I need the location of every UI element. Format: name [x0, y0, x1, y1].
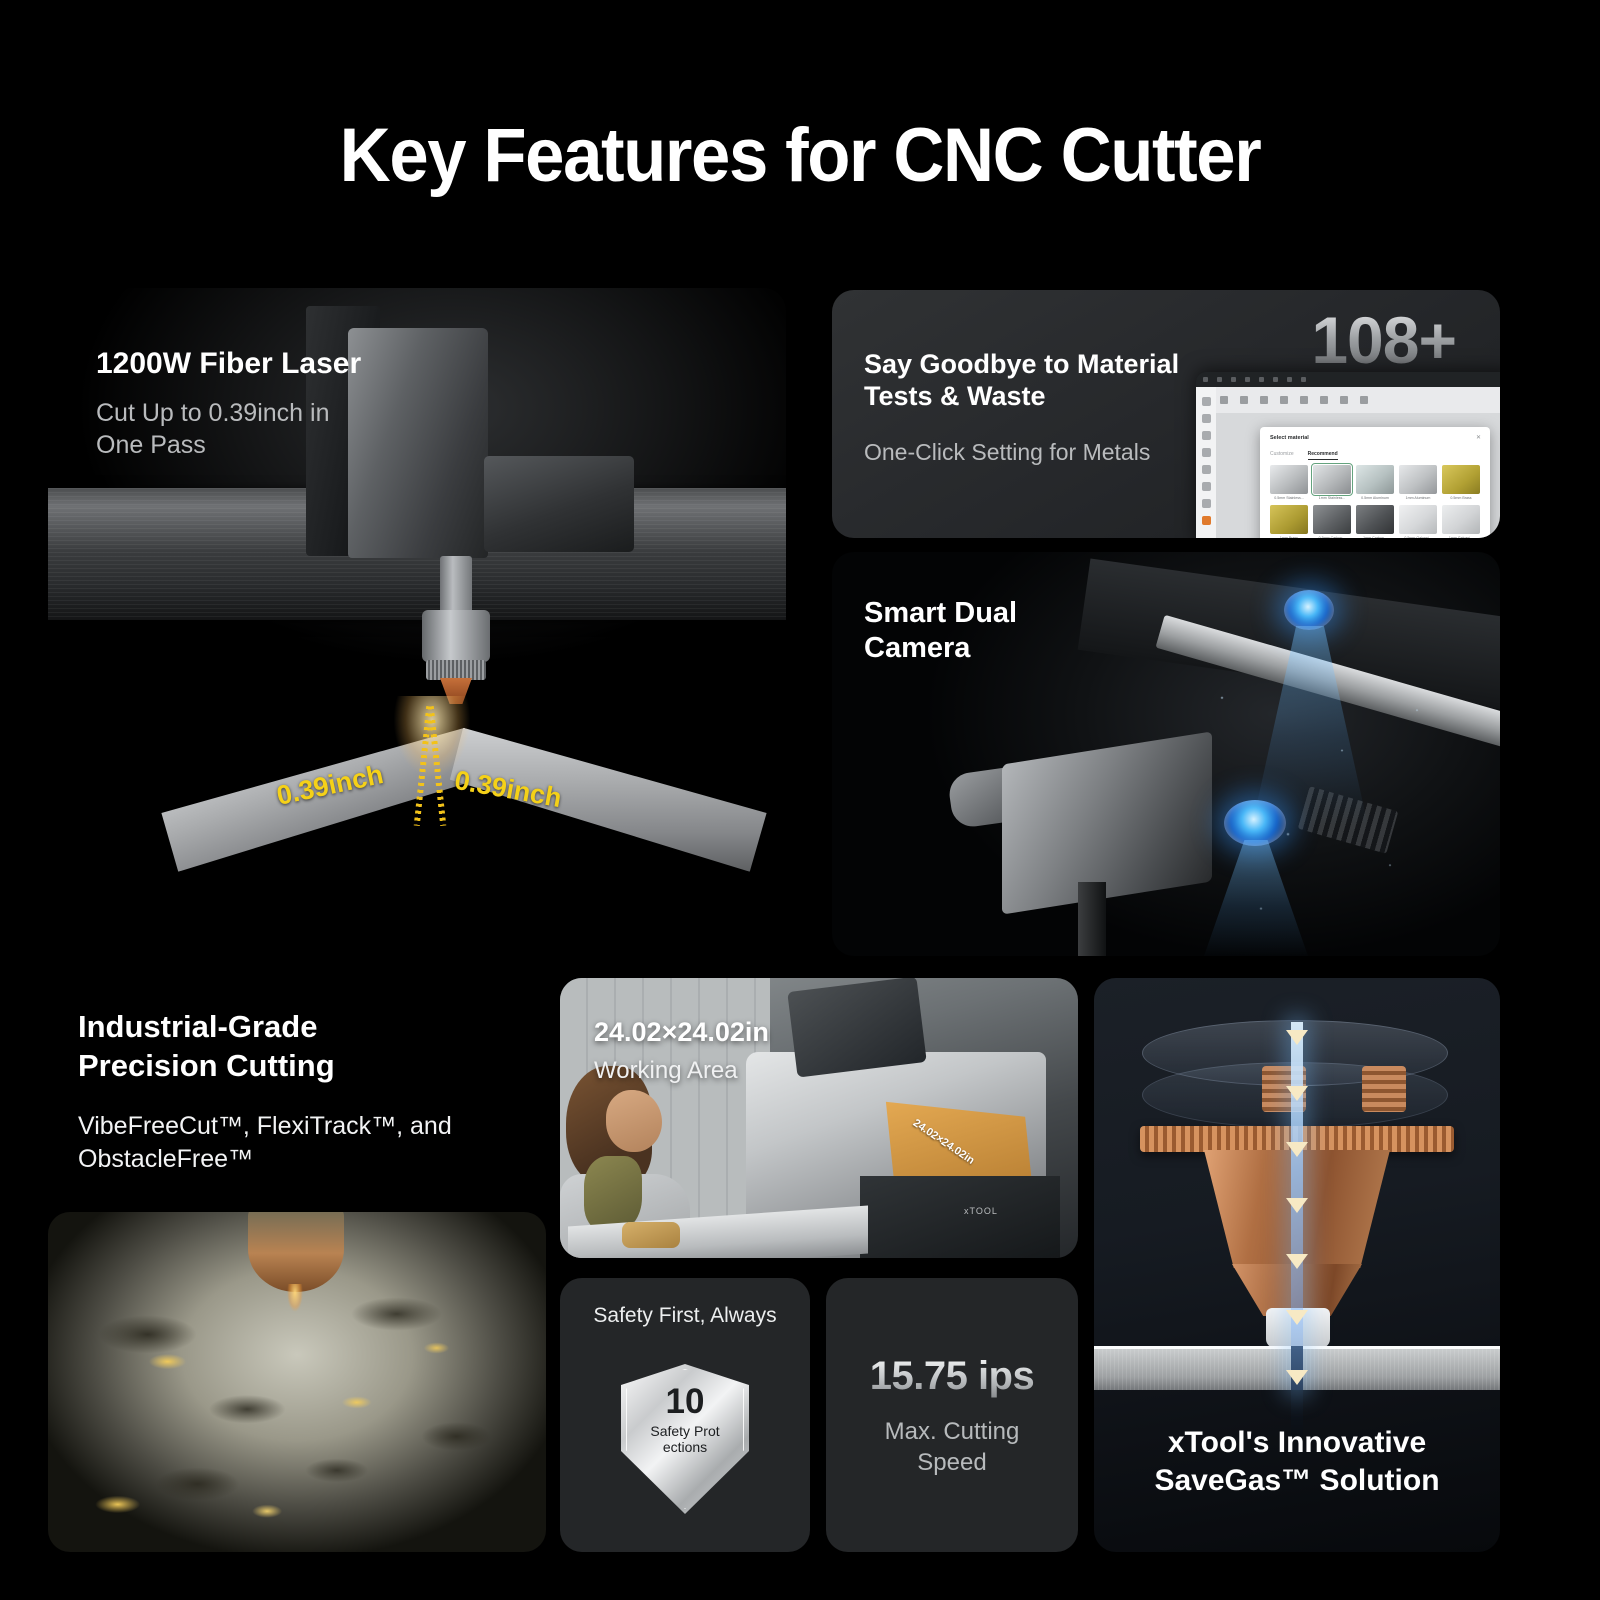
- gas-flow-arrow-icon: [1286, 1370, 1308, 1385]
- material-swatch-label: 0.5mm Aluminum: [1356, 496, 1394, 500]
- gas-flow-arrow-icon: [1286, 1198, 1308, 1213]
- undo-icon: [1245, 377, 1250, 382]
- cutting-spark-graphic: [284, 1284, 306, 1332]
- laser-head-graphic: [348, 328, 488, 558]
- material-tool-icon[interactable]: [1202, 516, 1211, 525]
- select-material-dialog: Select material ✕ Customize Recommend 0.…: [1260, 427, 1490, 538]
- material-swatch-thumb: [1442, 505, 1480, 534]
- align-icon: [1300, 396, 1308, 404]
- material-swatch-label: 1mm Stainless...: [1313, 496, 1351, 500]
- precision-subtitle: VibeFreeCut™, FlexiTrack™, and ObstacleF…: [78, 1110, 452, 1175]
- material-swatch-thumb: [1313, 465, 1351, 494]
- material-swatch-thumb: [1270, 505, 1308, 534]
- gas-flow-arrow-icon: [1286, 1086, 1308, 1101]
- redo-icon: [1259, 377, 1264, 382]
- gas-flow-arrow-icon: [1286, 1310, 1308, 1325]
- material-swatch[interactable]: 1mm Stainless...: [1313, 465, 1351, 500]
- card-fiber-laser: 0.39inch 0.39inch 1200W Fiber Laser Cut …: [48, 288, 786, 956]
- gas-flow-arrow-icon: [1286, 1142, 1308, 1157]
- thread-right-graphic: [1362, 1066, 1406, 1112]
- software-window-preview: Select material ✕ Customize Recommend 0.…: [1196, 372, 1500, 538]
- safety-title: Safety First, Always: [560, 1304, 810, 1328]
- material-count: 108+: [1311, 302, 1456, 378]
- material-swatch[interactable]: 0.5mm Stainless...: [1270, 465, 1308, 500]
- working-area-title: 24.02×24.02in: [594, 1016, 769, 1048]
- material-swatch-label: 1mm Aluminum: [1399, 496, 1437, 500]
- fiber-laser-title: 1200W Fiber Laser: [96, 346, 361, 382]
- material-swatch-thumb: [1442, 465, 1480, 494]
- tab-customize[interactable]: Customize: [1270, 451, 1294, 460]
- material-swatch-label: 0.5mm Brass: [1442, 496, 1480, 500]
- text-tool-icon[interactable]: [1202, 414, 1211, 423]
- width-icon: [1220, 396, 1228, 404]
- machine-brand-label: xTOOL: [964, 1206, 998, 1216]
- text-icon: [1287, 377, 1292, 382]
- close-icon[interactable]: ✕: [1476, 434, 1481, 441]
- grid-tool-icon[interactable]: [1202, 482, 1211, 491]
- card-precision-cutting-photo: [48, 1212, 546, 1552]
- material-swatch-thumb: [1399, 505, 1437, 534]
- software-tool-sidebar: [1196, 387, 1216, 538]
- material-swatch-label: 0.5mm Stainless...: [1270, 496, 1308, 500]
- dust-particles-graphic: [1162, 642, 1462, 952]
- precision-title: Industrial-Grade Precision Cutting: [78, 1008, 335, 1086]
- software-propertybar: [1196, 387, 1500, 413]
- material-swatch-label: 0.5mm Carbon...: [1313, 536, 1351, 538]
- material-swatch-thumb: [1313, 505, 1351, 534]
- material-subtitle: One-Click Setting for Metals: [864, 438, 1150, 467]
- dialog-title: Select material: [1270, 435, 1309, 441]
- frame-icon: [1217, 377, 1222, 382]
- material-swatch-label: 0.5mm Galvani...: [1399, 536, 1437, 538]
- card-safety: Safety First, Always 10 Safety Protectio…: [560, 1278, 810, 1552]
- operator-scarf-graphic: [584, 1156, 642, 1232]
- software-titlebar: [1196, 372, 1500, 387]
- gas-flow-arrow-icon: [1286, 1254, 1308, 1269]
- shield-icon: 10 Safety Protections: [621, 1364, 749, 1514]
- pen-tool-icon[interactable]: [1202, 448, 1211, 457]
- machine-base-graphic: [860, 1176, 1060, 1258]
- machine-lid-graphic: [787, 978, 927, 1078]
- card-cutting-speed: 15.75 ips Max. Cutting Speed: [826, 1278, 1078, 1552]
- material-swatch-thumb: [1399, 465, 1437, 494]
- material-swatch[interactable]: 1mm Aluminum: [1399, 465, 1437, 500]
- card-smart-dual-camera: Smart Dual Camera: [832, 552, 1500, 956]
- operator-glove-graphic: [622, 1222, 680, 1248]
- print-tool-icon[interactable]: [1202, 499, 1211, 508]
- shape-tool-icon[interactable]: [1202, 431, 1211, 440]
- nozzle-neck-graphic: [440, 556, 472, 616]
- material-swatch[interactable]: 0.5mm Carbon...: [1313, 505, 1351, 538]
- cutting-speed-label: Max. Cutting Speed: [826, 1416, 1078, 1478]
- lock-icon: [1280, 396, 1288, 404]
- image-icon[interactable]: [1202, 397, 1211, 406]
- material-swatch-label: 1mm Galvani...: [1442, 536, 1480, 538]
- material-swatch[interactable]: 0.5mm Aluminum: [1356, 465, 1394, 500]
- cutting-speed-value: 15.75 ips: [826, 1354, 1078, 1399]
- material-title: Say Goodbye to Material Tests & Waste: [864, 348, 1179, 413]
- card-savegas: xTool's Innovative SaveGas™ Solution: [1094, 978, 1500, 1552]
- material-swatch-label: 1mm Brass: [1270, 536, 1308, 538]
- shield-inner-border: [626, 1369, 744, 1509]
- material-swatch-thumb: [1270, 465, 1308, 494]
- fiber-laser-subtitle: Cut Up to 0.39inch in One Pass: [96, 398, 329, 461]
- flip-icon: [1360, 396, 1368, 404]
- material-swatch-label: 1mm Carbon...: [1356, 536, 1394, 538]
- dialog-tabs: Customize Recommend: [1270, 451, 1338, 460]
- page-title: Key Features for CNC Cutter: [56, 112, 1544, 199]
- material-swatch[interactable]: 1mm Galvani...: [1442, 505, 1480, 538]
- material-swatch-grid: 0.5mm Stainless...1mm Stainless...0.5mm …: [1270, 465, 1480, 538]
- angle-icon: [1260, 396, 1268, 404]
- tab-recommend[interactable]: Recommend: [1308, 451, 1338, 460]
- material-swatch-thumb: [1356, 465, 1394, 494]
- material-swatch-thumb: [1356, 505, 1394, 534]
- gantry-module-graphic: [484, 456, 634, 552]
- camera-post-graphic: [1078, 882, 1106, 956]
- close-icon: [1203, 377, 1208, 382]
- shape-icon: [1273, 377, 1278, 382]
- duplicate-icon: [1340, 396, 1348, 404]
- material-swatch[interactable]: 1mm Brass: [1270, 505, 1308, 538]
- operator-face-graphic: [606, 1090, 662, 1152]
- rotate-icon: [1231, 377, 1236, 382]
- group-icon: [1320, 396, 1328, 404]
- camera-lens-top-icon: [1284, 590, 1334, 630]
- node-tool-icon[interactable]: [1202, 465, 1211, 474]
- material-swatch[interactable]: 1mm Carbon...: [1356, 505, 1394, 538]
- nozzle-ring-graphic: [426, 660, 486, 680]
- settings-icon: [1301, 377, 1306, 382]
- height-icon: [1240, 396, 1248, 404]
- gas-flow-arrow-icon: [1286, 1030, 1308, 1045]
- feature-poster: Key Features for CNC Cutter 0.39inch 0.3…: [0, 0, 1600, 1600]
- material-swatch[interactable]: 0.5mm Brass: [1442, 465, 1480, 500]
- software-canvas: Select material ✕ Customize Recommend 0.…: [1216, 413, 1500, 538]
- card-material-tests: 108+: [832, 290, 1500, 538]
- material-swatch[interactable]: 0.5mm Galvani...: [1399, 505, 1437, 538]
- card-working-area: 24.02×24.02in xTOOL 24.02×24.02in Workin…: [560, 978, 1078, 1258]
- camera-title: Smart Dual Camera: [864, 596, 1017, 666]
- nozzle-body-graphic: [422, 610, 490, 662]
- working-area-subtitle: Working Area: [594, 1056, 738, 1086]
